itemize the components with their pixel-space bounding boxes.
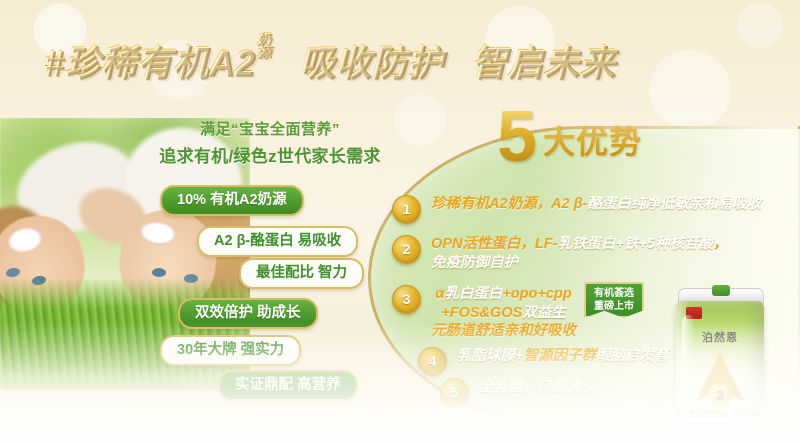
feature-pill-6[interactable]: 实证鼎配 高营养 <box>218 370 358 401</box>
can-body: 泊然恩 2 较大婴儿配方奶粉（6-12月龄，2段） 营养全面 守护宝宝成长 净含… <box>676 301 764 434</box>
advantages-heading: 5 大优势 <box>497 108 642 167</box>
flag-badge-line-2: 重磅上市 <box>586 301 642 314</box>
brand-logo-icon <box>686 307 702 319</box>
advantage-text-4: 乳脂球膜+智源因子群眼脑启发育 <box>457 347 668 366</box>
headline-part-3: 智启未来 <box>471 43 615 82</box>
advantage-badge-2: 2 <box>392 235 421 264</box>
feature-pill-2[interactable]: A2 β-酪蛋白 易吸收 <box>197 226 358 257</box>
advantage-text-5: 全乳糖，口感清淡 <box>479 378 595 397</box>
advantage-item-5[interactable]: 5 全乳糖，口感清淡 <box>440 378 595 407</box>
advantage-text-3: α乳白蛋白+opo+cpp+FOS&GOS双益生元肠道舒适亲和好吸收 <box>431 285 576 341</box>
new-launch-flag-badge: 有机荟选 重磅上市 <box>584 282 644 318</box>
advertisement-banner: #珍稀有机A2奶源吸收防护智启未来 满足“宝宝全面营养” 追求有机/绿色z世代家… <box>0 0 800 442</box>
advantage-badge-3: 3 <box>392 285 421 314</box>
can-lid-tab <box>712 285 730 296</box>
can-product-sublabel: 营养全面 守护宝宝成长 净含量 700g <box>676 421 764 427</box>
headline-part-1: #珍稀有机A2 <box>44 43 255 82</box>
child-right-eye-1 <box>152 268 166 277</box>
advantage-text-2: OPN活性蛋白，LF-乳铁蛋白+铁+5种核苷酸，免疫防御自护 <box>431 235 727 272</box>
advantage-badge-4: 4 <box>418 347 447 376</box>
advantage-badge-5: 5 <box>440 378 469 407</box>
advantage-text-1: 珍稀有机A2奶源，A2 β-酪蛋白纯净低敏亲和易吸收 <box>431 195 761 214</box>
subtitle-line-2: 追求有机/绿色z世代家长需求 <box>130 142 410 167</box>
headline-superscript: 奶源 <box>256 32 271 59</box>
feature-pill-4[interactable]: 双效倍护 助成长 <box>178 298 318 329</box>
headline-part-2: 吸收防护 <box>299 43 443 82</box>
advantage-item-4[interactable]: 4 乳脂球膜+智源因子群眼脑启发育 <box>418 347 668 376</box>
can-brand-name: 泊然恩 <box>676 329 764 345</box>
can-stage-number: 2 <box>708 383 732 407</box>
headline: #珍稀有机A2奶源吸收防护智启未来 <box>44 34 615 85</box>
feature-pill-3[interactable]: 最佳配比 智力 <box>239 258 364 289</box>
headline-superscript-bottom: 源 <box>256 45 271 58</box>
advantage-item-3[interactable]: 3 α乳白蛋白+opo+cpp+FOS&GOS双益生元肠道舒适亲和好吸收 <box>392 285 576 341</box>
feature-pill-5[interactable]: 30年大牌 强实力 <box>160 335 301 366</box>
advantage-badge-1: 1 <box>392 195 421 224</box>
advantage-item-2[interactable]: 2 OPN活性蛋白，LF-乳铁蛋白+铁+5种核苷酸，免疫防御自护 <box>392 235 727 272</box>
subtitle-block: 满足“宝宝全面营养” 追求有机/绿色z世代家长需求 <box>130 118 410 167</box>
advantage-item-1[interactable]: 1 珍稀有机A2奶源，A2 β-酪蛋白纯净低敏亲和易吸收 <box>392 195 761 224</box>
can-product-label: 较大婴儿配方奶粉（6-12月龄，2段） <box>676 409 764 418</box>
advantages-heading-label: 大优势 <box>543 117 642 163</box>
flag-badge-line-1: 有机荟选 <box>586 288 642 301</box>
feature-pill-1[interactable]: 10% 有机A2奶源 <box>160 185 304 216</box>
subtitle-line-1: 满足“宝宝全面营养” <box>130 118 410 139</box>
product-can[interactable]: 泊然恩 2 较大婴儿配方奶粉（6-12月龄，2段） 营养全面 守护宝宝成长 净含… <box>676 288 764 438</box>
advantages-count: 5 <box>497 108 537 167</box>
